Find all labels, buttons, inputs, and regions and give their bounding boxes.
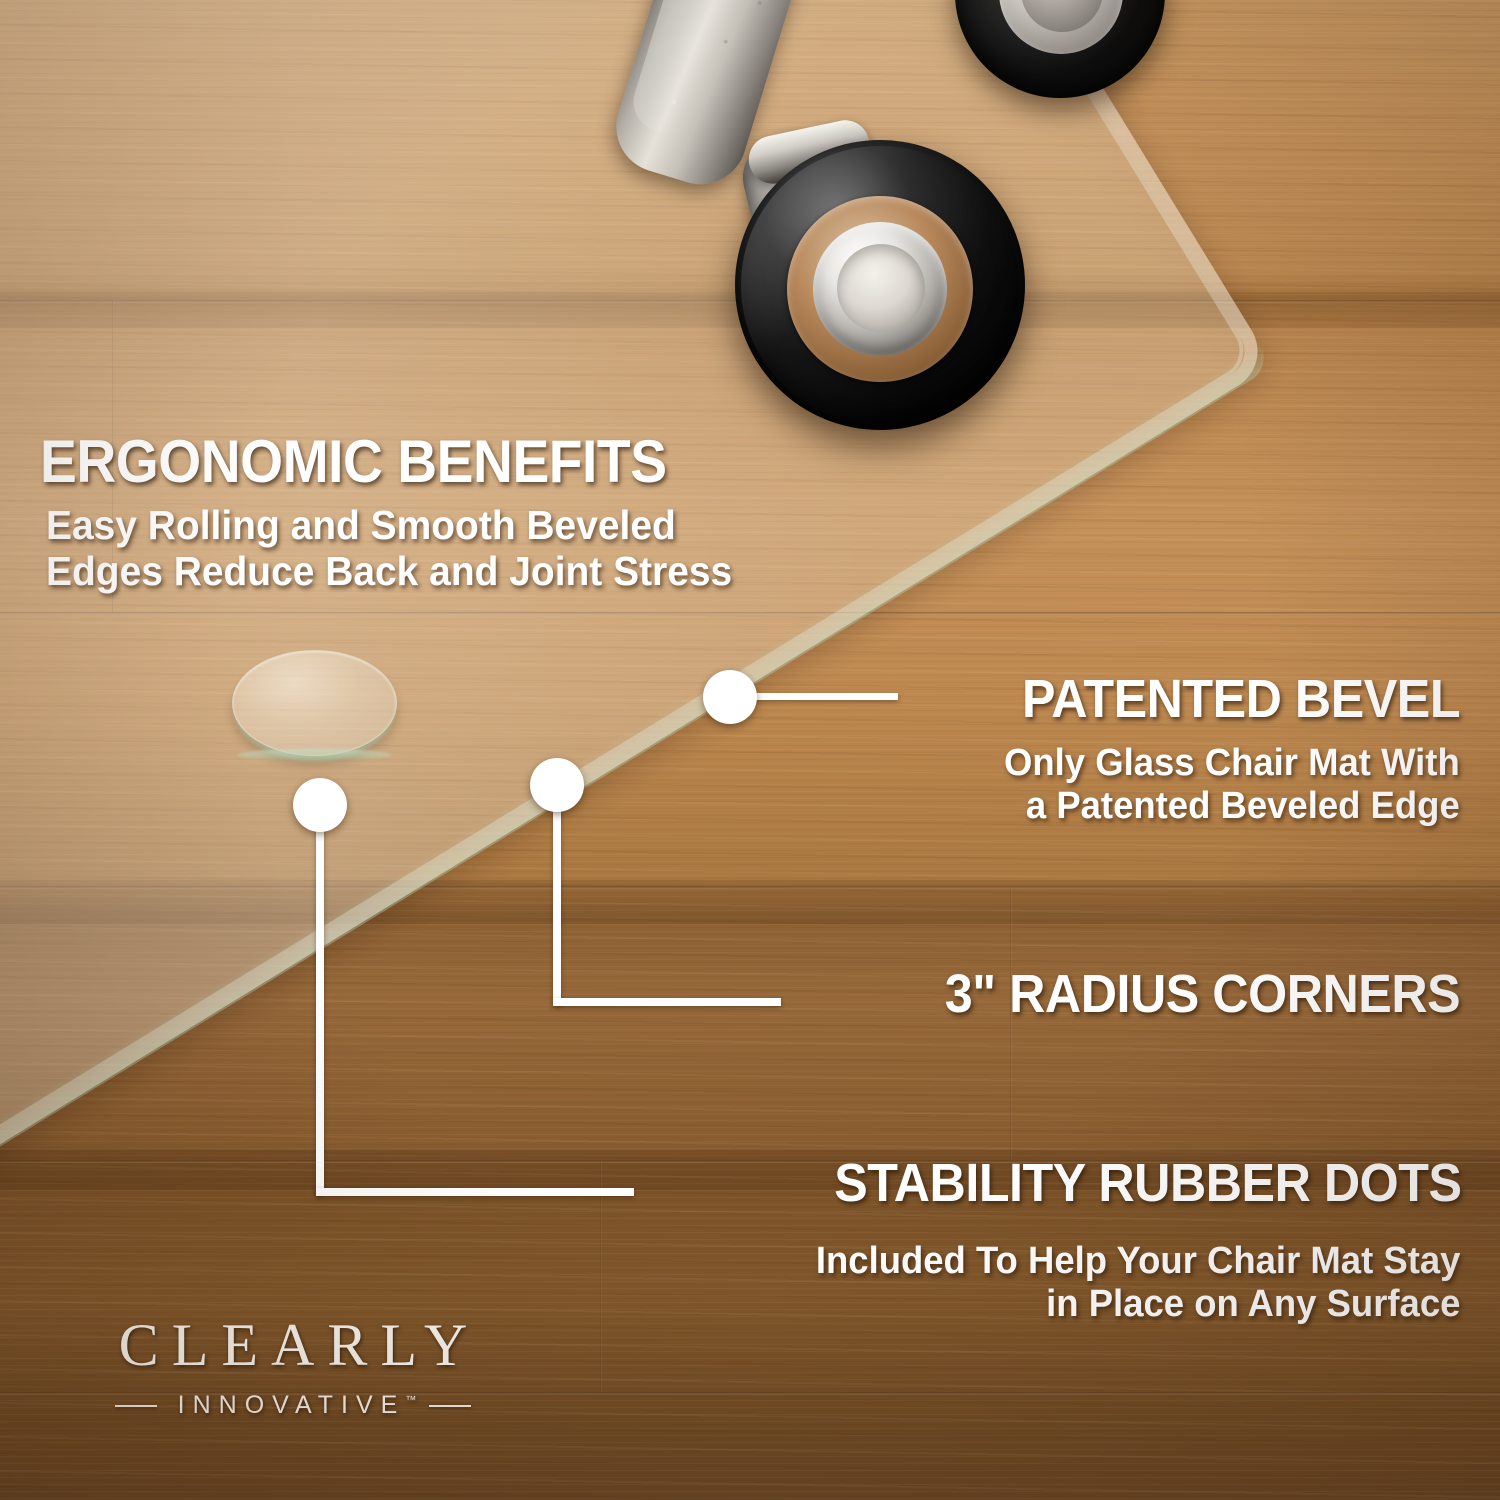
leader-line-stability-dots-vertical [316, 803, 324, 1195]
callout-dot-patented-bevel [703, 670, 757, 724]
callout-title-ergonomic-benefits: ERGONOMIC BENEFITS [40, 432, 667, 492]
callout-subtitle-line: Included To Help Your Chair Mat Stay [815, 1240, 1460, 1283]
leader-line-radius-corners-horizontal [553, 998, 781, 1006]
callout-subtitle-line: in Place on Any Surface [815, 1283, 1460, 1326]
leader-line-radius-corners-vertical [553, 783, 561, 1005]
callout-subtitle-ergonomic-benefits: Easy Rolling and Smooth Beveled Edges Re… [46, 503, 732, 595]
callout-dot-radius-corners [530, 758, 584, 812]
brand-logo-secondary-text: INNOVATIVE [178, 1391, 406, 1419]
trademark-symbol: ™ [405, 1395, 416, 1407]
caster-hub-bore [837, 244, 925, 332]
brand-logo-secondary: INNOVATIVE™ [170, 1391, 417, 1420]
callout-subtitle-line: a Patented Beveled Edge [1004, 785, 1460, 828]
logo-rule-left [115, 1405, 157, 1407]
callout-subtitle-line: Edges Reduce Back and Joint Stress [46, 549, 732, 595]
caster-hub-outer [787, 196, 973, 382]
caster-wheel-front [735, 140, 1025, 430]
callout-subtitle-patented-bevel: Only Glass Chair Mat With a Patented Bev… [1004, 742, 1460, 827]
stability-rubber-dot [232, 650, 397, 756]
caster-hub-bore [1021, 0, 1103, 32]
caster-hub-outer [999, 0, 1123, 54]
infographic-canvas: ERGONOMIC BENEFITS Easy Rolling and Smoo… [0, 0, 1500, 1500]
callout-title-radius-corners: 3" RADIUS CORNERS [945, 967, 1460, 1021]
callout-title-patented-bevel: PATENTED BEVEL [1022, 672, 1460, 726]
leader-line-stability-dots-horizontal [316, 1188, 634, 1196]
callout-subtitle-stability-rubber-dots: Included To Help Your Chair Mat Stay in … [815, 1240, 1460, 1325]
callout-title-stability-rubber-dots: STABILITY RUBBER DOTS [835, 1156, 1462, 1210]
callout-subtitle-line: Only Glass Chair Mat With [1004, 742, 1460, 785]
brand-logo: CLEARLY INNOVATIVE™ [78, 1315, 508, 1420]
callout-subtitle-line: Easy Rolling and Smooth Beveled [46, 503, 732, 549]
brand-logo-primary: CLEARLY [78, 1315, 508, 1375]
logo-rule-right [429, 1405, 471, 1407]
callout-dot-stability-dots [293, 778, 347, 832]
brand-logo-secondary-row: INNOVATIVE™ [78, 1391, 508, 1420]
caster-hub-chrome [813, 222, 947, 356]
